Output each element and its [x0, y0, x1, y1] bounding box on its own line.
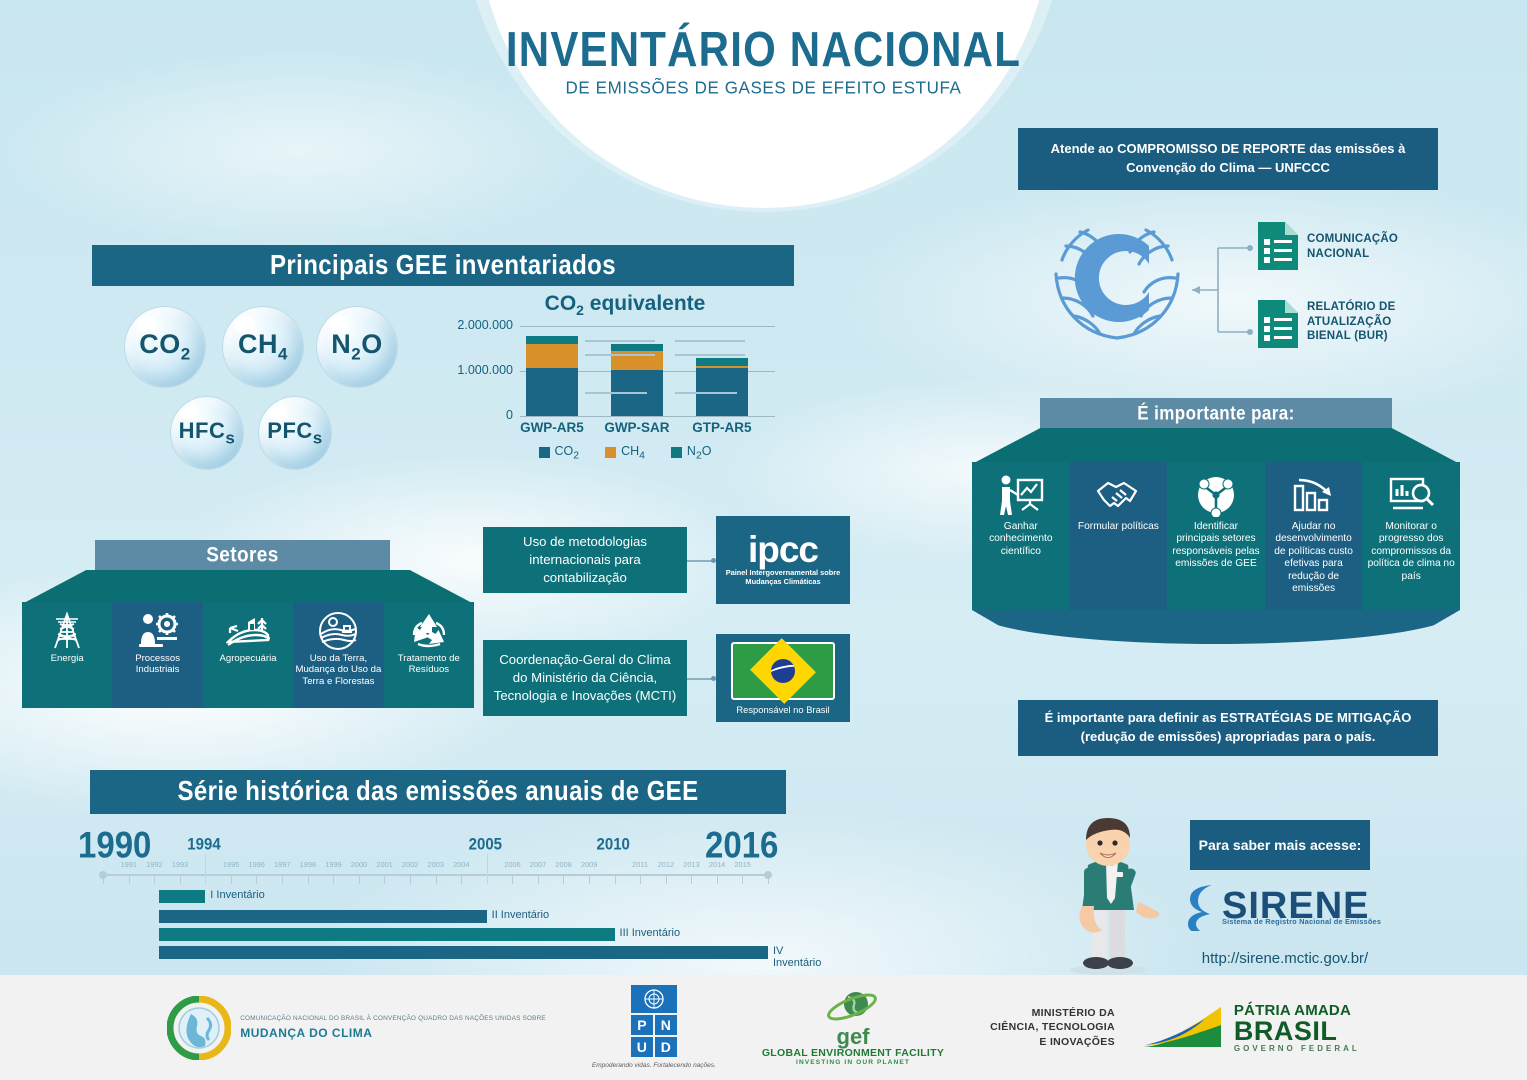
- network-nodes-icon: [1194, 472, 1238, 518]
- power-tower-icon: [47, 611, 87, 651]
- ministerio-line2: CIÊNCIA, TECNOLOGIA: [990, 1020, 1115, 1034]
- timeline-tick-2008: [563, 876, 564, 884]
- timeline-year-1993: 1993: [172, 860, 188, 869]
- pnud-letter-d: D: [655, 1037, 677, 1057]
- timeline-tick-1997: [282, 876, 283, 884]
- timeline-tick-1996: [256, 876, 257, 884]
- sector-item-2[interactable]: Processos Industriais: [112, 602, 202, 708]
- timeline-year-2009: 2009: [581, 860, 597, 869]
- unfccc-emblem-icon: [1042, 208, 1192, 348]
- compromisso-text: Atende ao COMPROMISSO DE REPORTE das emi…: [1028, 140, 1428, 178]
- sector-label: Agropecuária: [217, 653, 278, 664]
- timeline-tick-2009: [589, 876, 590, 884]
- importante-item-5[interactable]: Monitorar o progresso dos compromissos d…: [1362, 462, 1460, 610]
- logo-ministerio: MINISTÉRIO DA CIÊNCIA, TECNOLOGIA E INOV…: [990, 1006, 1115, 1049]
- chart-comparison-arrow: [675, 392, 737, 394]
- chart-gridline: [520, 416, 775, 417]
- pnud-letter-p: P: [631, 1015, 653, 1035]
- timeline-year-2011: 2011: [632, 860, 648, 869]
- setores-section-header: Setores: [95, 540, 390, 572]
- sirene-mark-icon: [1182, 881, 1222, 931]
- chart-legend: CO2 CH4 N2O: [435, 444, 815, 462]
- ipcc-wordmark: ipcc: [748, 533, 818, 567]
- timeline-tick-2000: [359, 876, 360, 884]
- sector-item-5[interactable]: Tratamento de Resíduos: [384, 602, 474, 708]
- timeline-tick-2002: [410, 876, 411, 884]
- footer-logos: COMUNICAÇÃO NACIONAL DO BRASIL À CONVENÇ…: [0, 975, 1527, 1080]
- bubble-label-co2: CO2: [139, 329, 190, 364]
- timeline-year-2015: 2015: [734, 860, 750, 869]
- timeline-tick-2005: [487, 854, 488, 884]
- importante-section-header: É importante para:: [1040, 398, 1392, 430]
- setores-list: EnergiaProcessos IndustriaisAgropecuária…: [22, 602, 474, 708]
- timeline-tick-1993: [180, 876, 181, 884]
- inventory-label-4: IV Inventário: [773, 945, 821, 969]
- timeline-year-2005: 2005: [469, 835, 502, 854]
- brasil-caption: Responsável no Brasil: [736, 704, 829, 715]
- chart-segment-CO2: [526, 368, 578, 416]
- serie-title: Série histórica das emissões anuais de G…: [177, 776, 698, 808]
- declining-bars-icon: [1291, 472, 1337, 518]
- timeline-year-2012: 2012: [658, 860, 674, 869]
- timeline-year-2001: 2001: [376, 860, 392, 869]
- timeline-tick-1998: [308, 876, 309, 884]
- timeline-tick-2007: [538, 876, 539, 884]
- ministerio-line3: E INOVAÇÕES: [990, 1035, 1115, 1049]
- sector-label: Energia: [49, 653, 86, 664]
- logo-patria-amada-brasil: PÁTRIA AMADA BRASIL GOVERNO FEDERAL: [1139, 1001, 1360, 1055]
- timeline-tick-1999: [333, 876, 334, 884]
- timeline-tick-1990: [103, 876, 104, 884]
- ipcc-caption: Painel Intergovernamental sobre Mudanças…: [716, 569, 850, 586]
- un-emblem-icon: [631, 985, 677, 1013]
- mcti-box: Coordenação-Geral do Clima do Ministério…: [483, 640, 687, 716]
- pab-line3: GOVERNO FEDERAL: [1234, 1044, 1360, 1053]
- gee-section-header: Principais GEE inventariados: [92, 245, 794, 286]
- bubble-label-ch4: CH4: [238, 329, 288, 364]
- timeline-year-2002: 2002: [402, 860, 418, 869]
- inventory-bar-2: [159, 910, 487, 923]
- importante-label: Formular políticas: [1074, 521, 1163, 533]
- timeline-tick-2012: [666, 876, 667, 884]
- farm-field-icon: [226, 611, 270, 651]
- timeline-year-2010: 2010: [597, 835, 630, 854]
- legend-item-co2: CO2: [539, 444, 580, 462]
- estrategias-banner: É importante para definir as ESTRATÉGIAS…: [1018, 700, 1438, 756]
- connector-line: [687, 560, 715, 562]
- chart-xtick: GTP-AR5: [677, 420, 767, 435]
- doc-label-relatorio: RELATÓRIO DE ATUALIZAÇÃO BIENAL (BUR): [1307, 300, 1437, 344]
- sector-item-1[interactable]: Energia: [22, 602, 112, 708]
- timeline-year-1995: 1995: [223, 860, 239, 869]
- inventory-bar-1: [159, 890, 205, 903]
- chart-ytick: 1.000.000: [418, 363, 513, 377]
- timeline-year-2013: 2013: [683, 860, 699, 869]
- pnud-caption: Empoderando vidas. Fortalecendo nações.: [592, 1061, 716, 1070]
- chart-segment-N2O: [526, 336, 578, 345]
- sirene-tagline: Sistema de Registro Nacional de Emissões: [1222, 917, 1387, 926]
- bubble-label-pfcs: PFCs: [267, 418, 322, 448]
- bubble-label-hfcs: HFCs: [179, 418, 236, 448]
- timeline-tick-2004: [461, 876, 462, 884]
- chart-segment-CH4: [526, 344, 578, 368]
- timeline-tick-1995: [231, 876, 232, 884]
- gee-section-title: Principais GEE inventariados: [270, 250, 616, 282]
- timeline-year-2008: 2008: [555, 860, 571, 869]
- flag-globe: [771, 659, 795, 683]
- serie-section-header: Série histórica das emissões anuais de G…: [90, 770, 786, 814]
- timeline-tick-2016: [768, 876, 769, 884]
- compromisso-banner: Atende ao COMPROMISSO DE REPORTE das emi…: [1018, 128, 1438, 190]
- timeline-tick-1991: [129, 876, 130, 884]
- document-list-icon: [1258, 300, 1298, 348]
- connector-line: [687, 678, 715, 680]
- bubble-co2: CO2: [124, 306, 206, 388]
- timeline-year-1991: 1991: [121, 860, 137, 869]
- importante-list: Ganhar conhecimento científicoFormular p…: [972, 462, 1460, 610]
- branch-connector: [1188, 232, 1268, 348]
- logo-pnud: P N U D Empoderando vidas. Fortalecendo …: [592, 985, 716, 1070]
- pab-line2: BRASIL: [1234, 1019, 1360, 1045]
- land-use-circle-icon: [316, 611, 360, 651]
- inventory-label-3: III Inventário: [620, 927, 681, 939]
- mascot-illustration: [1060, 810, 1180, 975]
- inventory-bar-3: [159, 928, 615, 941]
- monitor-chart-icon: [1387, 472, 1435, 518]
- brasil-responsible-box: Responsável no Brasil: [716, 634, 850, 722]
- chart-xtick: GWP-AR5: [507, 420, 597, 435]
- sector-item-3[interactable]: Agropecuária: [203, 602, 293, 708]
- legend-item-n2o: N2O: [671, 444, 712, 462]
- timeline-year-1992: 1992: [146, 860, 162, 869]
- logo-mudanca-do-clima: COMUNICAÇÃO NACIONAL DO BRASIL À CONVENÇ…: [167, 996, 546, 1060]
- timeline-year-1998: 1998: [300, 860, 316, 869]
- bubble-n2o: N2O: [316, 306, 398, 388]
- brazil-flag-icon: [731, 642, 835, 700]
- presenter-board-icon: [998, 472, 1044, 518]
- pnud-letter-n: N: [655, 1015, 677, 1035]
- chart-ytick: 2.000.000: [418, 318, 513, 332]
- chart-xtick: GWP-SAR: [592, 420, 682, 435]
- sector-label: Processos Industriais: [112, 653, 202, 676]
- chart-title: CO2 equivalente: [435, 292, 815, 318]
- importante-label: Identificar principais setores responsáv…: [1167, 521, 1265, 571]
- gef-line1: GLOBAL ENVIRONMENT FACILITY: [762, 1047, 944, 1059]
- timeline-tick-2003: [436, 876, 437, 884]
- saber-mais-text: Para saber mais acesse:: [1199, 837, 1362, 853]
- sector-label: Uso da Terra, Mudança do Uso da Terra e …: [293, 653, 383, 687]
- logo-gef: gef GLOBAL ENVIRONMENT FACILITY INVESTIN…: [762, 989, 944, 1066]
- timeline-year-2014: 2014: [709, 860, 725, 869]
- gef-line2: INVESTING IN OUR PLANET: [762, 1059, 944, 1066]
- timeline-tick-1992: [154, 876, 155, 884]
- timeline-tick-2015: [742, 876, 743, 884]
- setores-roof: [22, 570, 474, 604]
- importante-item-3[interactable]: Identificar principais setores responsáv…: [1167, 462, 1265, 610]
- chart-ytick: 0: [418, 408, 513, 422]
- document-list-icon: [1258, 222, 1298, 270]
- importante-label: Ajudar no desenvolvimento de políticas c…: [1265, 521, 1363, 596]
- chart-comparison-arrow: [675, 354, 745, 356]
- inventory-label-2: II Inventário: [492, 909, 549, 921]
- chart-segment-N2O: [696, 358, 748, 366]
- timeline-chart: 1990201619942005201019911992199319951996…: [78, 818, 798, 948]
- ipcc-logo: ipcc Painel Intergovernamental sobre Mud…: [716, 516, 850, 604]
- timeline-year-2007: 2007: [530, 860, 546, 869]
- importante-label: Ganhar conhecimento científico: [972, 521, 1070, 558]
- handshake-icon: [1094, 472, 1142, 518]
- bubble-hfcs: HFCs: [170, 396, 244, 470]
- timeline-year-2006: 2006: [504, 860, 520, 869]
- importante-item-2[interactable]: Formular políticas: [1070, 462, 1168, 610]
- timeline-tick-2014: [717, 876, 718, 884]
- bubble-label-n2o: N2O: [331, 329, 382, 364]
- page-title: INVENTÁRIO NACIONAL: [0, 22, 1527, 78]
- importante-label: Monitorar o progresso dos compromissos d…: [1362, 521, 1460, 583]
- estrategias-text: É importante para definir as ESTRATÉGIAS…: [1028, 709, 1428, 747]
- inventory-label-1: I Inventário: [210, 889, 264, 901]
- chart-comparison-arrow: [585, 340, 655, 342]
- timeline-tick-2006: [512, 876, 513, 884]
- infographic-poster: INVENTÁRIO NACIONAL DE EMISSÕES DE GASES…: [0, 0, 1527, 1080]
- legend-item-ch4: CH4: [605, 444, 645, 462]
- sector-item-4[interactable]: Uso da Terra, Mudança do Uso da Terra e …: [293, 602, 383, 708]
- mudanca-small-text: COMUNICAÇÃO NACIONAL DO BRASIL À CONVENÇ…: [240, 1015, 546, 1023]
- setores-title: Setores: [206, 543, 279, 568]
- timeline-tick-2010: [615, 876, 616, 884]
- timeline-year-2003: 2003: [428, 860, 444, 869]
- chart-segment-N2O: [611, 344, 663, 351]
- timeline-tick-2013: [691, 876, 692, 884]
- chart-comparison-arrow: [585, 354, 655, 356]
- sector-label: Tratamento de Resíduos: [384, 653, 474, 676]
- timeline-year-1997: 1997: [274, 860, 290, 869]
- gef-wordmark: gef: [762, 1027, 944, 1047]
- timeline-year-1999: 1999: [325, 860, 341, 869]
- timeline-year-1990: 1990: [78, 824, 151, 867]
- sirene-url[interactable]: http://sirene.mctic.gov.br/: [1170, 950, 1400, 967]
- globe-ring-icon: [167, 996, 231, 1060]
- brasil-gov-mark-icon: [1139, 1001, 1225, 1055]
- pnud-letter-u: U: [631, 1037, 653, 1057]
- mudanca-big-text: MUDANÇA DO CLIMA: [240, 1026, 546, 1040]
- importante-title: É importante para:: [1137, 403, 1294, 426]
- timeline-year-2000: 2000: [351, 860, 367, 869]
- bubble-ch4: CH4: [222, 306, 304, 388]
- timeline-year-1994: 1994: [187, 835, 220, 854]
- importante-item-4[interactable]: Ajudar no desenvolvimento de políticas c…: [1265, 462, 1363, 610]
- timeline-tick-2001: [384, 876, 385, 884]
- timeline-year-2004: 2004: [453, 860, 469, 869]
- timeline-tick-1994: [205, 854, 206, 884]
- industry-worker-icon: [137, 611, 179, 651]
- methodology-box: Uso de metodologias internacionais para …: [483, 527, 687, 593]
- importante-roof: [972, 428, 1460, 464]
- chart-comparison-arrow: [675, 340, 745, 342]
- chart-comparison-arrow: [585, 392, 647, 394]
- doc-label-comunicacao: COMUNICAÇÃO NACIONAL: [1307, 232, 1437, 261]
- saber-mais-banner: Para saber mais acesse:: [1190, 820, 1370, 870]
- page-subtitle: DE EMISSÕES DE GASES DE EFEITO ESTUFA: [0, 78, 1527, 99]
- ministerio-line1: MINISTÉRIO DA: [990, 1006, 1115, 1020]
- gef-planet-icon: [826, 989, 880, 1029]
- timeline-year-1996: 1996: [248, 860, 264, 869]
- bubble-pfcs: PFCs: [258, 396, 332, 470]
- importante-base: [972, 610, 1460, 644]
- importante-item-1[interactable]: Ganhar conhecimento científico: [972, 462, 1070, 610]
- co2-equivalent-chart: CO2 equivalente 2.000.0001.000.0000GWP-A…: [435, 292, 815, 477]
- inventory-bar-4: [159, 946, 768, 959]
- timeline-tick-2011: [640, 876, 641, 884]
- recycling-icon: [408, 611, 450, 651]
- chart-bar-GWP-AR5: [526, 326, 578, 416]
